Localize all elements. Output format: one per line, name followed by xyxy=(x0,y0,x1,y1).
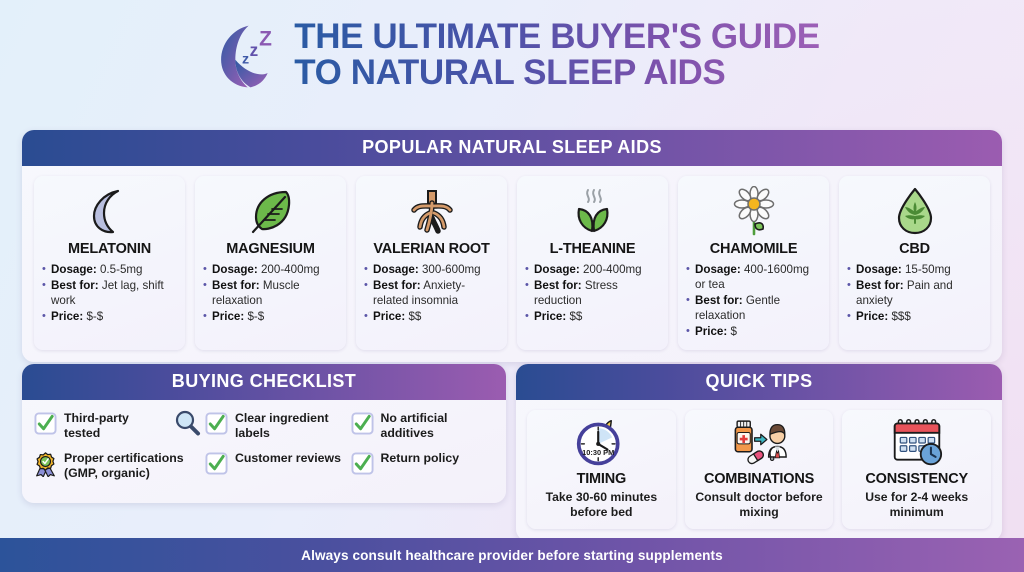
checklist-item-proper-certifications[interactable]: Proper certifications (GMP, organic) xyxy=(34,451,205,481)
buying-checklist-panel: BUYING CHECKLIST Third-party tested xyxy=(22,364,506,503)
tip-description: Use for 2-4 weeks minimum xyxy=(847,490,986,520)
svg-text:Z: Z xyxy=(259,28,272,51)
certification-rosette-icon xyxy=(34,452,57,475)
aid-details: Dosage: 200-400mg Best for: Muscle relax… xyxy=(203,262,338,325)
sleeping-moon-icon: z z Z xyxy=(204,18,280,94)
aid-details: Dosage: 400-1600mg or tea Best for: Gent… xyxy=(686,262,821,340)
aid-name: CBD xyxy=(847,241,982,257)
tips-section-heading: QUICK TIPS xyxy=(516,364,1002,400)
checkbox-checked-icon[interactable] xyxy=(34,412,57,435)
cbd-oil-drop-icon xyxy=(847,185,982,237)
aid-best-for: Best for: Muscle relaxation xyxy=(203,278,338,308)
aid-dosage: Dosage: 400-1600mg or tea xyxy=(686,262,821,292)
tip-card-timing[interactable]: 10:30 PM TIMING Take 30-60 minutes befor… xyxy=(527,410,676,529)
checklist-item-return-policy[interactable]: Return policy xyxy=(351,451,497,481)
tip-description: Take 30-60 minutes before bed xyxy=(532,490,671,520)
aid-name: MELATONIN xyxy=(42,241,177,257)
aid-price: Price: $$$ xyxy=(847,309,982,324)
aid-details: Dosage: 200-400mg Best for: Stress reduc… xyxy=(525,262,660,325)
page-title-line2: to Natural Sleep Aids xyxy=(294,55,820,91)
aid-price: Price: $$ xyxy=(364,309,499,324)
aid-price: Price: $-$ xyxy=(42,309,177,324)
tip-title: CONSISTENCY xyxy=(847,471,986,487)
checklist-item-no-artificial-additives[interactable]: No artificial additives xyxy=(351,411,497,441)
aid-card-melatonin[interactable]: MELATONIN Dosage: 0.5-5mg Best for: Jet … xyxy=(34,176,185,350)
tip-title: COMBINATIONS xyxy=(690,471,829,487)
magnifying-glass-icon xyxy=(173,409,201,437)
aid-details: Dosage: 0.5-5mg Best for: Jet lag, shift… xyxy=(42,262,177,325)
footer-text: Always consult healthcare provider befor… xyxy=(301,548,723,563)
aid-dosage: Dosage: 300-600mg xyxy=(364,262,499,277)
aid-best-for: Best for: Jet lag, shift work xyxy=(42,278,177,308)
svg-text:z: z xyxy=(250,41,259,60)
aid-dosage: Dosage: 0.5-5mg xyxy=(42,262,177,277)
popular-sleep-aids-panel: POPULAR NATURAL SLEEP AIDS MELATONIN Dos… xyxy=(22,130,1002,362)
checklist-item-clear-ingredient-labels[interactable]: Clear ingredient labels xyxy=(205,411,351,441)
tip-card-combinations[interactable]: COMBINATIONS Consult doctor before mixin… xyxy=(685,410,834,529)
aid-dosage: Dosage: 200-400mg xyxy=(525,262,660,277)
daisy-flower-icon xyxy=(686,185,821,237)
quick-tips-panel: QUICK TIPS 10:30 PM TIMING Take 30-6 xyxy=(516,364,1002,541)
svg-text:z: z xyxy=(242,52,249,68)
calendar-clock-icon xyxy=(847,417,986,469)
tip-description: Consult doctor before mixing xyxy=(690,490,829,520)
checklist-item-label: No artificial additives xyxy=(381,411,493,441)
aid-name: MAGNESIUM xyxy=(203,241,338,257)
aids-section-heading: POPULAR NATURAL SLEEP AIDS xyxy=(22,130,1002,166)
page-title: The Ultimate Buyer's Guide to Natural Sl… xyxy=(294,19,820,92)
steaming-leaves-icon xyxy=(525,185,660,237)
aid-card-magnesium[interactable]: MAGNESIUM Dosage: 200-400mg Best for: Mu… xyxy=(195,176,346,350)
tip-title: TIMING xyxy=(532,471,671,487)
clock-time-label: 10:30 PM xyxy=(582,448,614,457)
checkbox-checked-icon[interactable] xyxy=(351,412,374,435)
aid-details: Dosage: 300-600mg Best for: Anxiety-rela… xyxy=(364,262,499,325)
aid-dosage: Dosage: 15-50mg xyxy=(847,262,982,277)
checklist-row: Proper certifications (GMP, organic) Cus… xyxy=(34,451,496,481)
crescent-moon-icon xyxy=(42,185,177,237)
tip-card-consistency[interactable]: CONSISTENCY Use for 2-4 weeks minimum xyxy=(842,410,991,529)
checklist-items: Third-party tested Clear ingredient labe… xyxy=(22,400,506,503)
aids-card-list: MELATONIN Dosage: 0.5-5mg Best for: Jet … xyxy=(22,166,1002,362)
checklist-item-label: Proper certifications (GMP, organic) xyxy=(64,451,201,481)
aid-card-l-theanine[interactable]: L-THEANINE Dosage: 200-400mg Best for: S… xyxy=(517,176,668,350)
aid-card-cbd[interactable]: CBD Dosage: 15-50mg Best for: Pain and a… xyxy=(839,176,990,350)
aid-best-for: Best for: Stress reduction xyxy=(525,278,660,308)
checklist-item-third-party-tested[interactable]: Third-party tested xyxy=(34,411,205,441)
checkbox-checked-icon[interactable] xyxy=(351,452,374,475)
night-clock-icon: 10:30 PM xyxy=(532,417,671,469)
aid-price: Price: $$ xyxy=(525,309,660,324)
aid-details: Dosage: 15-50mg Best for: Pain and anxie… xyxy=(847,262,982,325)
aid-best-for: Best for: Gentle relaxation xyxy=(686,293,821,323)
root-icon xyxy=(364,185,499,237)
aid-best-for: Best for: Anxiety-related insomnia xyxy=(364,278,499,308)
checklist-item-label: Clear ingredient labels xyxy=(235,411,347,441)
footer-disclaimer-bar: Always consult healthcare provider befor… xyxy=(0,538,1024,572)
aid-card-valerian-root[interactable]: VALERIAN ROOT Dosage: 300-600mg Best for… xyxy=(356,176,507,350)
aid-card-chamomile[interactable]: CHAMOMILE Dosage: 400-1600mg or tea Best… xyxy=(678,176,829,350)
medicine-doctor-icon xyxy=(690,417,829,469)
page-header: z z Z The Ultimate Buyer's Guide to Natu… xyxy=(0,0,1024,102)
aid-price: Price: $ xyxy=(686,324,821,339)
tips-card-list: 10:30 PM TIMING Take 30-60 minutes befor… xyxy=(516,400,1002,541)
checklist-item-customer-reviews[interactable]: Customer reviews xyxy=(205,451,351,481)
aid-best-for: Best for: Pain and anxiety xyxy=(847,278,982,308)
aid-price: Price: $-$ xyxy=(203,309,338,324)
aid-name: L-THEANINE xyxy=(525,241,660,257)
checklist-item-label: Third-party tested xyxy=(64,411,164,441)
checkbox-checked-icon[interactable] xyxy=(205,452,228,475)
aid-name: CHAMOMILE xyxy=(686,241,821,257)
aid-name: VALERIAN ROOT xyxy=(364,241,499,257)
checklist-item-label: Customer reviews xyxy=(235,451,341,466)
checkbox-checked-icon[interactable] xyxy=(205,412,228,435)
leaf-icon xyxy=(203,185,338,237)
aid-dosage: Dosage: 200-400mg xyxy=(203,262,338,277)
checklist-section-heading: BUYING CHECKLIST xyxy=(22,364,506,400)
page-title-line1: The Ultimate Buyer's Guide xyxy=(294,19,820,55)
checklist-row: Third-party tested Clear ingredient labe… xyxy=(34,411,496,441)
checklist-item-label: Return policy xyxy=(381,451,460,466)
